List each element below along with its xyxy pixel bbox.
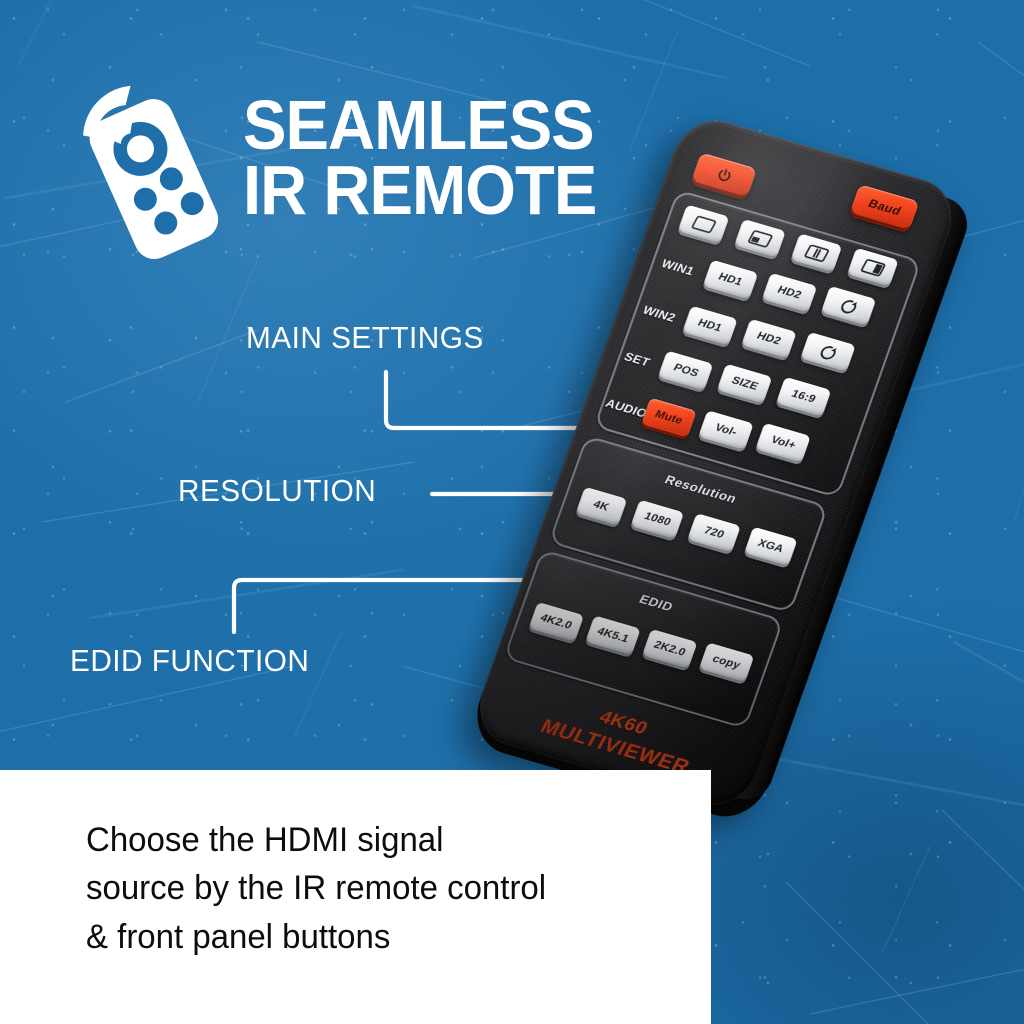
win2-hd2-label: HD2 [755,330,783,347]
edid-4k51-label: 4K5.1 [595,626,631,645]
resolution-xga-label: XGA [756,538,786,555]
audio-vol-down-button[interactable]: Vol- [698,410,753,450]
win1-hd2-button[interactable]: HD2 [762,273,817,313]
audio-vol-down-label: Vol- [713,422,739,438]
resolution-1080-label: 1080 [642,510,673,528]
audio-mute-button[interactable]: Mute [641,398,696,438]
resolution-4k-button[interactable]: 4K [576,487,628,526]
caption-line-2: source by the IR remote control [86,864,668,912]
layout-full-button[interactable] [678,204,730,243]
audio-vol-up-button[interactable]: Vol+ [755,423,810,463]
win1-hd1-label: HD1 [716,271,744,288]
set-size-button[interactable]: SIZE [717,364,772,404]
callout-label-resolution: RESOLUTION [178,473,376,509]
remote-power-button[interactable] [691,152,757,197]
remote-baud-button[interactable]: Baud [850,184,920,230]
caption-line-1: Choose the HDMI signal [86,816,668,864]
win1-hd1-button[interactable]: HD1 [703,260,758,300]
layout-dual-button[interactable] [791,233,843,272]
layout-pbp-button[interactable] [847,248,899,287]
callout-label-main-settings: MAIN SETTINGS [246,320,484,356]
audio-mute-label: Mute [653,409,685,427]
cycle-icon [836,296,861,316]
win2-cycle-button[interactable] [800,332,855,372]
win1-hd2-label: HD2 [775,284,803,301]
set-pos-label: POS [671,362,700,379]
row-label-win2: WIN2 [640,303,678,324]
layout-pip-icon [746,229,773,248]
set-aspect-button[interactable]: 16:9 [776,377,831,417]
caption-text: Choose the HDMI signal source by the IR … [86,816,668,961]
layout-dual-icon [803,243,830,262]
layout-pip-button[interactable] [734,219,786,258]
resolution-1080-button[interactable]: 1080 [631,500,685,539]
row-label-win1: WIN1 [659,257,697,278]
audio-vol-up-label: Vol+ [769,434,798,451]
win1-cycle-button[interactable] [821,286,876,326]
poster-canvas: SEAMLESS IR REMOTE MAIN SETTINGS RESOLUT… [0,0,1024,1024]
power-icon [714,166,733,184]
ir-remote-icon [60,74,235,264]
resolution-4k-label: 4K [592,499,612,513]
resolution-720-label: 720 [702,525,727,541]
baud-label: Baud [866,197,904,218]
resolution-720-button[interactable]: 720 [687,513,741,552]
set-size-label: SIZE [729,375,760,393]
edid-copy-label: copy [711,653,743,671]
edid-copy-button[interactable]: copy [699,642,754,682]
layout-full-icon [690,214,717,233]
set-pos-button[interactable]: POS [658,351,713,391]
edid-2k20-label: 2K2.0 [652,639,688,658]
resolution-xga-button[interactable]: XGA [744,527,798,566]
cycle-icon [816,342,841,362]
set-aspect-label: 16:9 [789,388,817,405]
edid-4k51-button[interactable]: 4K5.1 [585,615,640,655]
win2-hd1-button[interactable]: HD1 [682,306,737,346]
remote-body: Baud [468,111,963,814]
win2-hd1-label: HD1 [696,317,724,334]
win2-hd2-button[interactable]: HD2 [741,319,796,359]
edid-4k20-label: 4K2.0 [538,612,574,631]
row-label-set: SET [622,350,653,369]
edid-2k20-button[interactable]: 2K2.0 [642,629,697,669]
layout-pbp-icon [859,257,886,276]
caption-line-3: & front panel buttons [86,913,668,961]
edid-4k20-button[interactable]: 4K2.0 [529,602,584,642]
callout-label-edid-function: EDID FUNCTION [70,643,309,679]
